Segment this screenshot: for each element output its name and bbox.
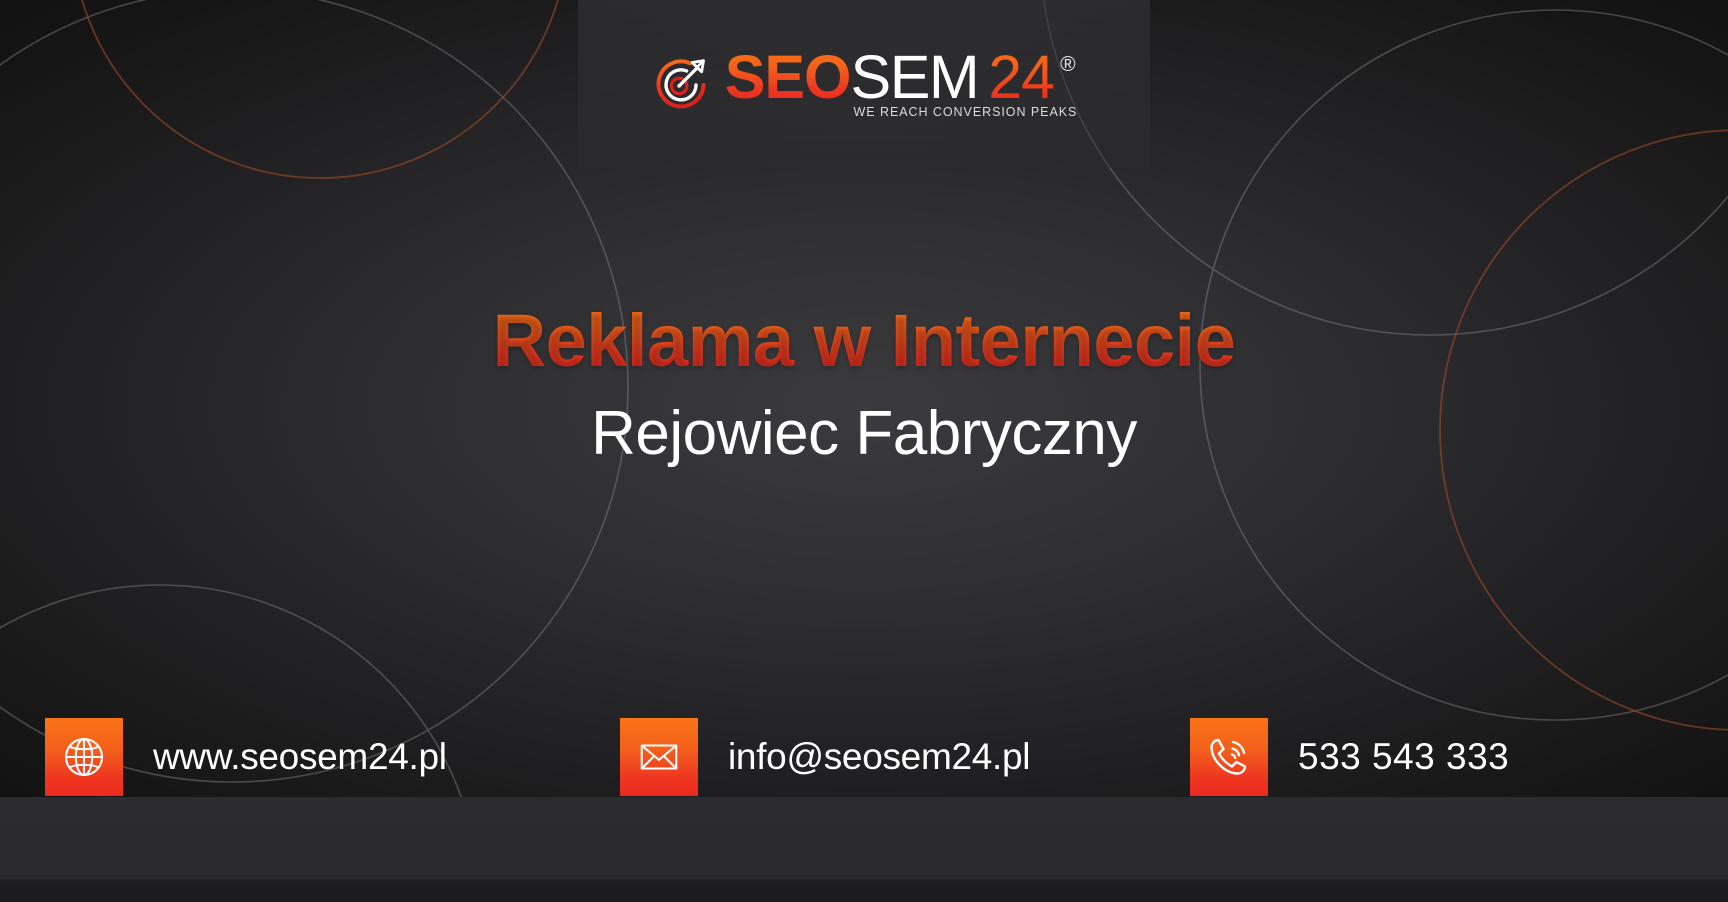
globe-icon	[45, 718, 123, 796]
deco-circle-rust-topleft	[72, 0, 568, 178]
phone-ring-icon	[1190, 718, 1268, 796]
phone-value: 533 543 333	[1298, 736, 1509, 778]
target-dart-icon	[651, 55, 711, 115]
logo-tagline: WE REACH CONVERSION PEAKS	[854, 105, 1078, 119]
contact-website[interactable]: www.seosem24.pl	[45, 718, 447, 796]
footer-bar	[0, 797, 1728, 902]
contact-email[interactable]: info@seosem24.pl	[620, 718, 1030, 796]
brand-logo[interactable]: SEO SEM 24 ® WE REACH CONVERSION PEAKS	[651, 49, 1078, 120]
registered-mark: ®	[1060, 53, 1075, 77]
logo-panel: SEO SEM 24 ® WE REACH CONVERSION PEAKS	[578, 0, 1150, 168]
email-value: info@seosem24.pl	[728, 736, 1030, 778]
logo-text-sem: SEM	[851, 49, 979, 107]
logo-text-seo: SEO	[725, 49, 851, 107]
hero-text-block: Reklama w Internecie Rejowiec Fabryczny	[0, 300, 1728, 468]
page-subtitle: Rejowiec Fabryczny	[0, 399, 1728, 468]
page-title: Reklama w Internecie	[493, 300, 1236, 383]
envelope-icon	[620, 718, 698, 796]
promo-banner: SEO SEM 24 ® WE REACH CONVERSION PEAKS R…	[0, 0, 1728, 902]
website-value: www.seosem24.pl	[153, 736, 447, 778]
contact-phone[interactable]: 533 543 333	[1190, 718, 1509, 796]
logo-text-24: 24	[988, 49, 1054, 107]
